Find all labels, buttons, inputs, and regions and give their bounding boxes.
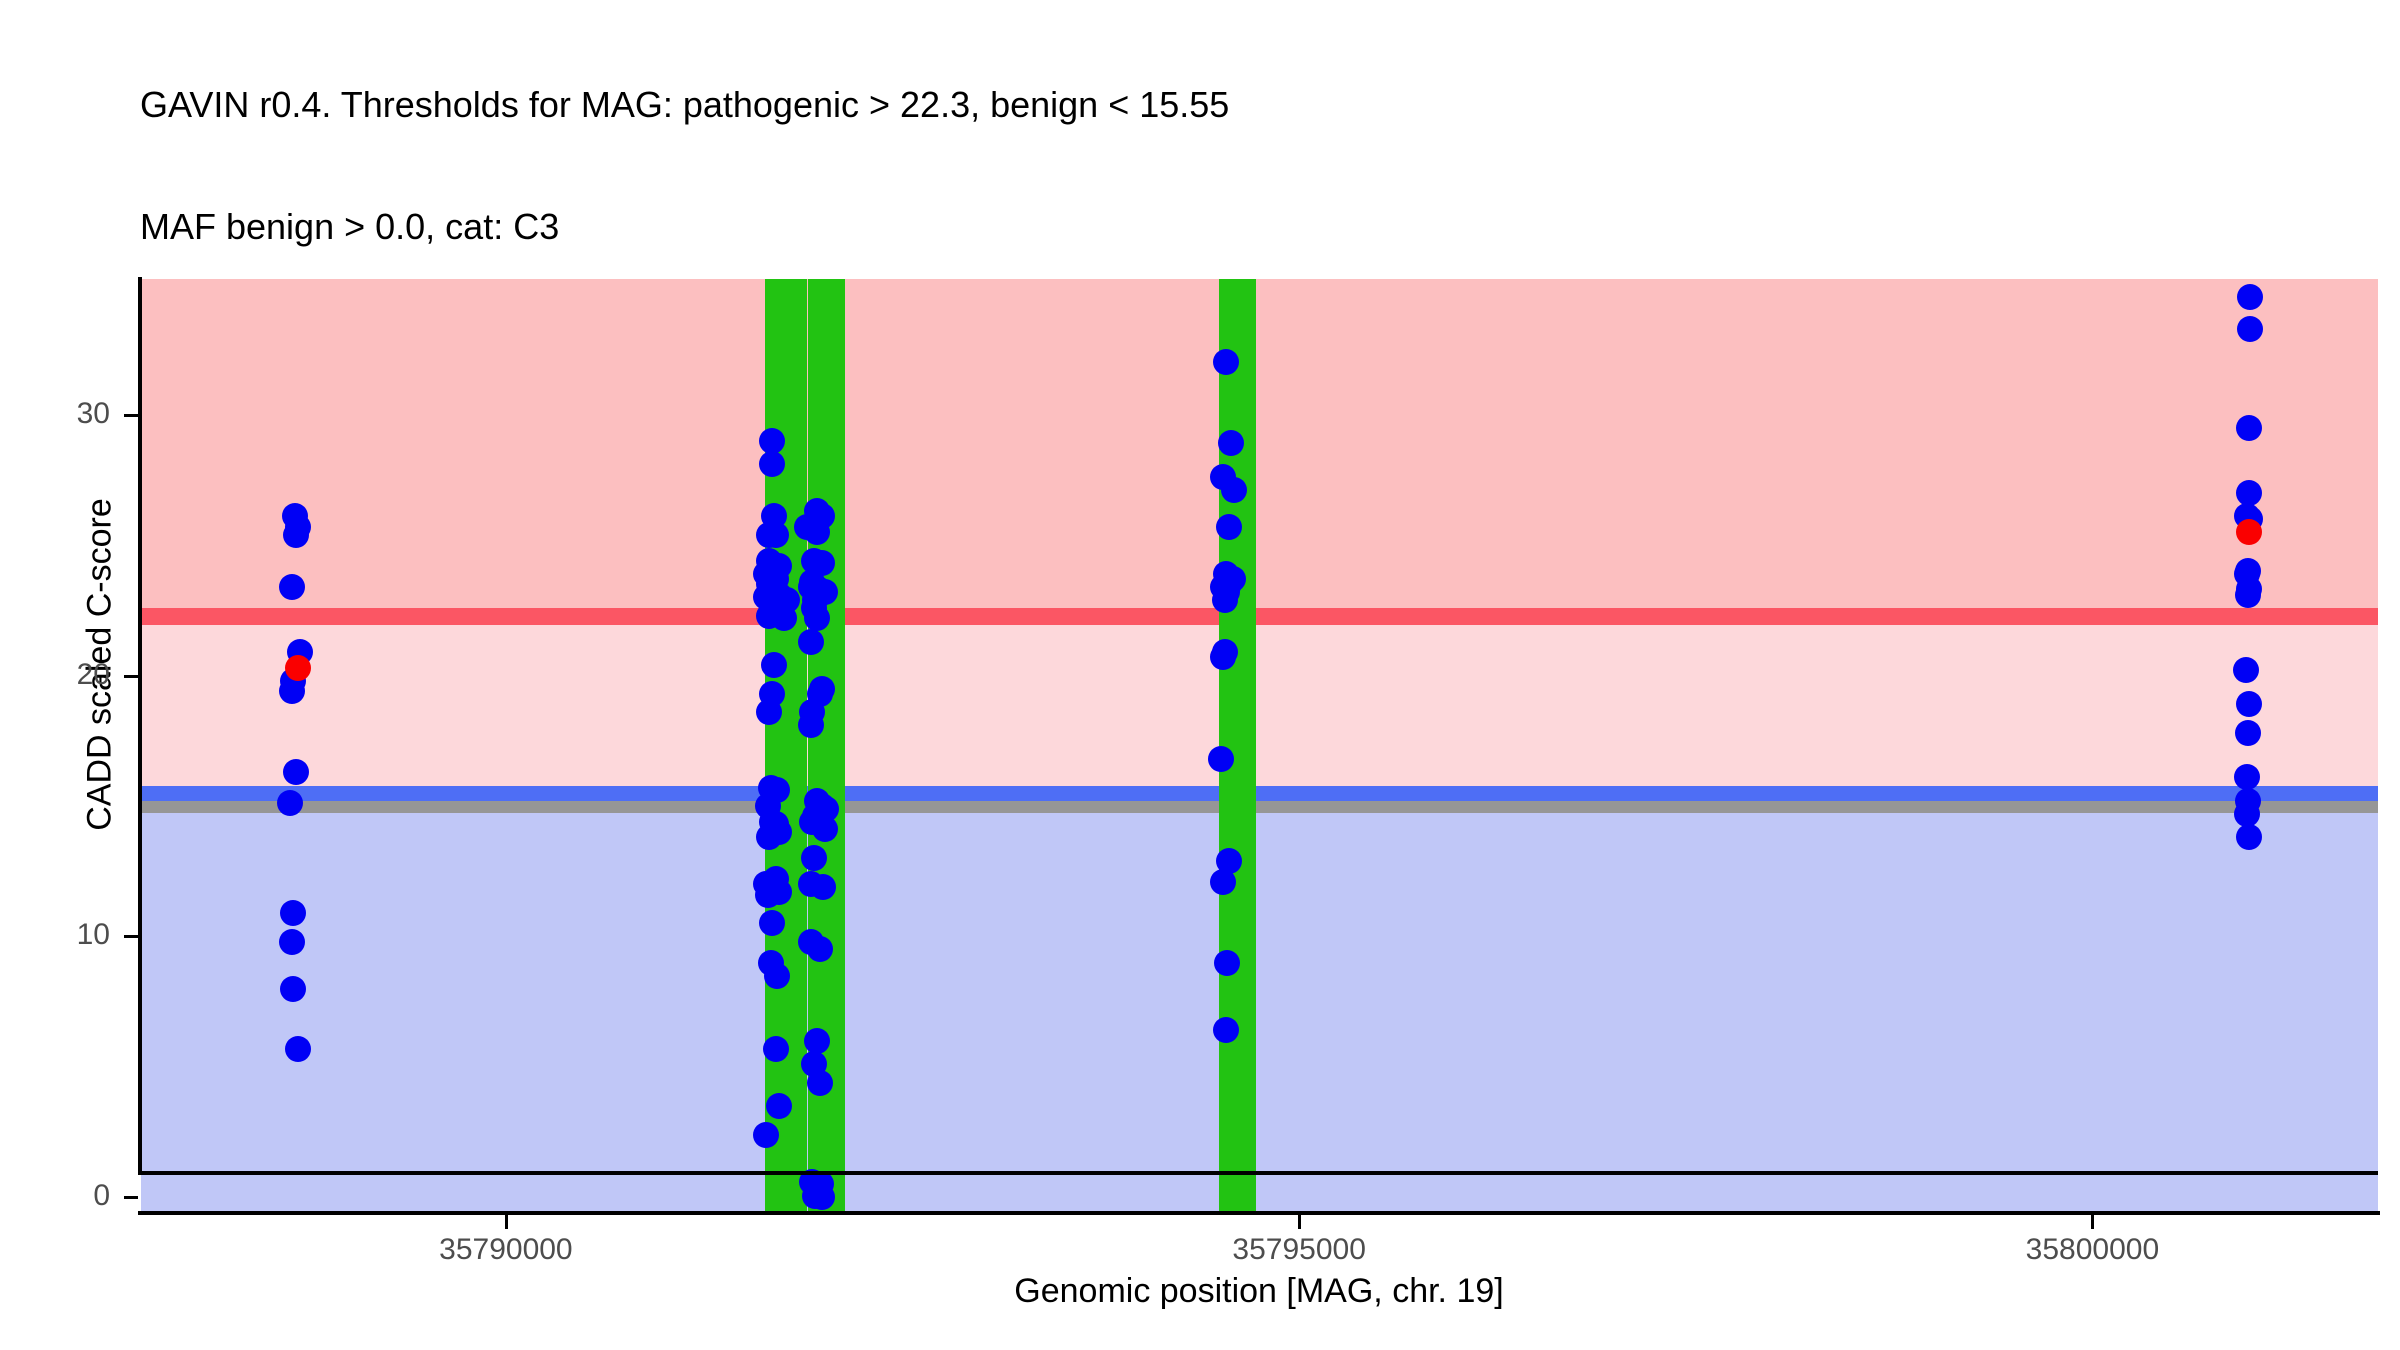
data-point bbox=[798, 629, 824, 655]
data-point bbox=[279, 574, 305, 600]
y-axis-line bbox=[138, 277, 142, 1175]
pathogenic-threshold-line bbox=[141, 608, 2378, 625]
data-point bbox=[809, 1184, 835, 1210]
data-point bbox=[763, 1036, 789, 1062]
y-tick-label: 10 bbox=[20, 918, 110, 952]
y-tick-mark bbox=[124, 935, 138, 938]
y-tick-label: 30 bbox=[20, 397, 110, 431]
data-point bbox=[2236, 824, 2262, 850]
data-point bbox=[285, 655, 311, 681]
exon-1-marker bbox=[765, 279, 808, 1213]
vus-zone bbox=[141, 625, 2378, 787]
data-point bbox=[753, 1122, 779, 1148]
data-point bbox=[804, 519, 830, 545]
benign-threshold-line bbox=[141, 786, 2378, 800]
data-point bbox=[1212, 587, 1238, 613]
data-point bbox=[755, 882, 781, 908]
y-tick-label: 20 bbox=[20, 658, 110, 692]
data-point bbox=[1216, 514, 1242, 540]
data-point bbox=[764, 963, 790, 989]
data-point bbox=[807, 1070, 833, 1096]
data-point bbox=[1214, 950, 1240, 976]
x-tick-mark bbox=[1298, 1215, 1301, 1229]
x-axis-line bbox=[138, 1211, 2380, 1215]
data-point bbox=[285, 1036, 311, 1062]
x-tick-mark bbox=[505, 1215, 508, 1229]
chart-root: GAVIN r0.4. Thresholds for MAG: pathogen… bbox=[0, 0, 2400, 1350]
data-point bbox=[280, 976, 306, 1002]
data-point bbox=[2236, 691, 2262, 717]
data-point bbox=[804, 1028, 830, 1054]
data-point bbox=[761, 652, 787, 678]
x-tick-label: 35795000 bbox=[1169, 1233, 1429, 1267]
data-point bbox=[766, 1093, 792, 1119]
data-point bbox=[1210, 869, 1236, 895]
data-point bbox=[798, 712, 824, 738]
y-tick-mark bbox=[124, 1196, 138, 1199]
data-point bbox=[801, 845, 827, 871]
y-tick-mark bbox=[124, 675, 138, 678]
data-point bbox=[283, 522, 309, 548]
x-tick-label: 35800000 bbox=[1962, 1233, 2222, 1267]
data-point bbox=[759, 428, 785, 454]
data-point bbox=[771, 605, 797, 631]
benign-zone bbox=[141, 813, 2378, 1213]
data-point bbox=[2237, 316, 2263, 342]
plot-panel bbox=[141, 279, 2378, 1213]
data-point bbox=[756, 522, 782, 548]
x-tick-label: 35790000 bbox=[376, 1233, 636, 1267]
fallback-threshold-line bbox=[141, 801, 2378, 813]
title-line-1: GAVIN r0.4. Thresholds for MAG: pathogen… bbox=[140, 85, 2240, 126]
data-point bbox=[279, 929, 305, 955]
y-tick-mark bbox=[124, 414, 138, 417]
data-point bbox=[2236, 415, 2262, 441]
data-point bbox=[2235, 720, 2261, 746]
data-point bbox=[810, 874, 836, 900]
pathogenic-zone bbox=[141, 279, 2378, 608]
data-point bbox=[2236, 519, 2262, 545]
y-tick-label: 0 bbox=[20, 1179, 110, 1213]
title-line-2: MAF benign > 0.0, cat: C3 bbox=[140, 207, 2240, 248]
data-point bbox=[2235, 582, 2261, 608]
plot-area bbox=[141, 279, 2378, 1213]
data-point bbox=[279, 678, 305, 704]
x-axis-title: Genomic position [MAG, chr. 19] bbox=[140, 1272, 2378, 1311]
data-point bbox=[2234, 801, 2260, 827]
data-point bbox=[804, 605, 830, 631]
x-tick-mark bbox=[2091, 1215, 2094, 1229]
zero-baseline bbox=[141, 1171, 2378, 1175]
